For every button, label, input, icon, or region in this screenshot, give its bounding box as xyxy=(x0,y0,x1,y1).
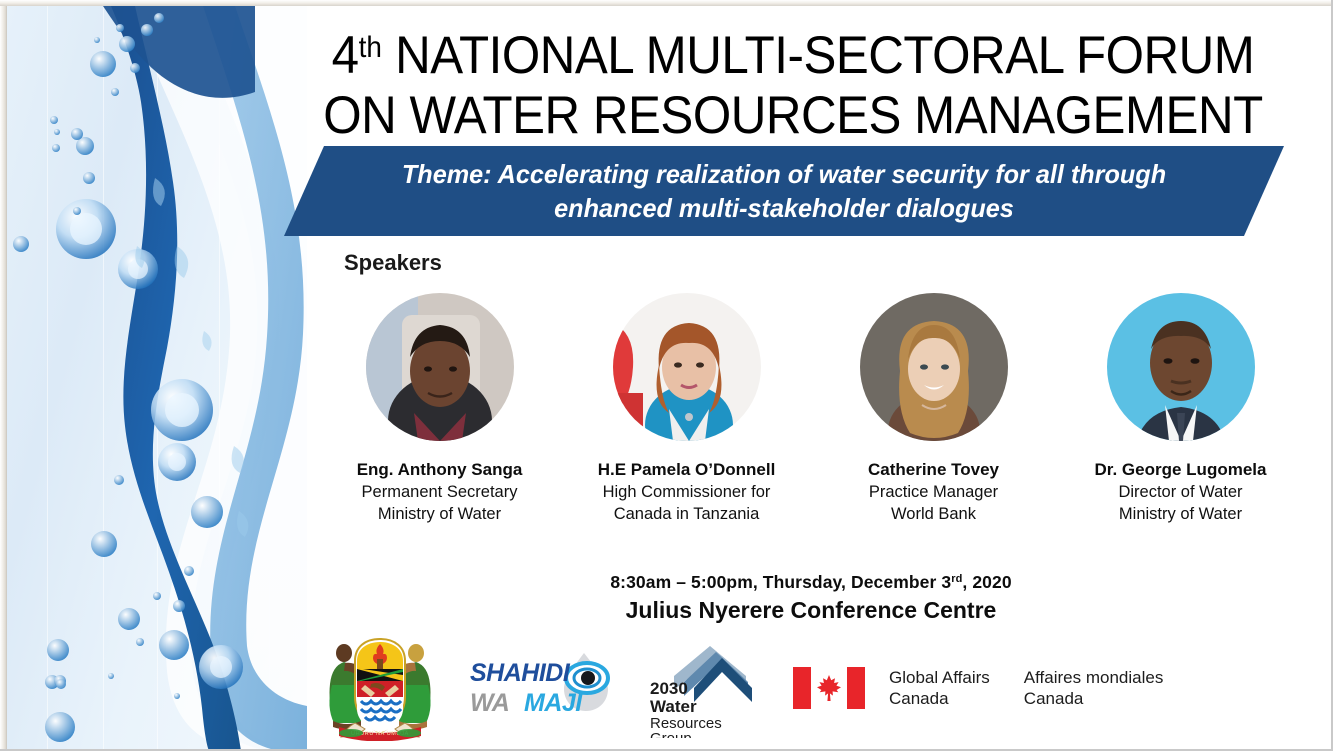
speaker-name: Dr. George Lugomela xyxy=(1057,459,1304,481)
2030-water-resources-group-logo: 2030 Water Resources Group xyxy=(643,632,763,744)
event-datetime: 8:30am – 5:00pm, Thursday, December 3rd,… xyxy=(316,566,1306,595)
speaker-card: H.E Pamela O’Donnell High Commissioner f… xyxy=(563,293,810,525)
event-year: , 2020 xyxy=(962,572,1011,592)
portrait-pamela-odonnell xyxy=(613,293,761,441)
affaires-mondiales-canada-french: Affaires mondiales Canada xyxy=(1024,667,1164,709)
global-affairs-canada-logo: Global Affairs Canada Affaires mondiales… xyxy=(793,632,1163,744)
shahidi-word: SHAHIDI xyxy=(470,659,571,687)
title-line-1-rest: NATIONAL MULTI-SECTORAL FORUM xyxy=(382,26,1254,85)
speakers-heading: Speakers xyxy=(344,250,442,276)
speaker-role: High Commissioner for xyxy=(563,481,810,503)
wrg-line-2030: 2030 xyxy=(650,679,688,698)
speaker-card: Catherine Tovey Practice Manager World B… xyxy=(810,293,1057,525)
slide-frame-left-edge xyxy=(0,0,7,751)
canada-flag-icon xyxy=(793,667,865,709)
theme-text: Theme: Accelerating realization of water… xyxy=(357,157,1211,225)
wrg-line-water: Water xyxy=(650,697,697,716)
speaker-name: H.E Pamela O’Donnell xyxy=(563,459,810,481)
slide-frame-top-edge xyxy=(0,0,1333,6)
title-ordinal-number: 4 xyxy=(332,26,359,85)
title-ordinal-suffix: th xyxy=(359,31,382,64)
event-info: 8:30am – 5:00pm, Thursday, December 3rd,… xyxy=(316,566,1306,625)
title-line-2: ON WATER RESOURCES MANAGEMENT xyxy=(319,86,1268,146)
global-affairs-canada-english: Global Affairs Canada xyxy=(889,667,990,709)
wrg-line-group: Group xyxy=(650,730,692,738)
event-date-ordinal-suffix: rd xyxy=(951,573,962,585)
speaker-card: Eng. Anthony Sanga Permanent Secretary M… xyxy=(316,293,563,525)
portrait-anthony-sanga xyxy=(366,293,514,441)
speaker-name: Eng. Anthony Sanga xyxy=(316,459,563,481)
water-bubbles-graphic xyxy=(7,6,307,751)
speaker-card: Dr. George Lugomela Director of Water Mi… xyxy=(1057,293,1304,525)
speaker-role: Permanent Secretary xyxy=(316,481,563,503)
speakers-row: Eng. Anthony Sanga Permanent Secretary M… xyxy=(316,293,1306,525)
speaker-organization: World Bank xyxy=(810,503,1057,525)
french-line-2: Canada xyxy=(1024,688,1164,709)
speaker-organization: Canada in Tanzania xyxy=(563,503,810,525)
speaker-role: Director of Water xyxy=(1057,481,1304,503)
english-line-2: Canada xyxy=(889,688,990,709)
title-line-1: 4th NATIONAL MULTI-SECTORAL FORUM xyxy=(319,18,1268,86)
event-venue: Julius Nyerere Conference Centre xyxy=(316,595,1306,625)
wa-word: WA xyxy=(470,689,509,717)
tanzania-coat-of-arms: UHURU NA UMOJA xyxy=(316,632,444,744)
speaker-role: Practice Manager xyxy=(810,481,1057,503)
portrait-george-lugomela xyxy=(1107,293,1255,441)
slide-canvas: 4th NATIONAL MULTI-SECTORAL FORUM ON WAT… xyxy=(0,0,1333,751)
event-time-range: 8:30am – 5:00pm, Thursday, December 3 xyxy=(610,572,951,592)
logo-row: UHURU NA UMOJA SHAHIDI WA MAJI xyxy=(316,632,1306,744)
water-wave-svg xyxy=(7,6,307,751)
speaker-name: Catherine Tovey xyxy=(810,459,1057,481)
shahidi-wa-maji-logo: SHAHIDI WA MAJI xyxy=(466,632,621,744)
maji-word: MAJI xyxy=(524,689,583,717)
speaker-organization: Ministry of Water xyxy=(1057,503,1304,525)
theme-banner: Theme: Accelerating realization of water… xyxy=(284,146,1284,236)
portrait-catherine-tovey xyxy=(860,293,1008,441)
speaker-organization: Ministry of Water xyxy=(316,503,563,525)
english-line-1: Global Affairs xyxy=(889,667,990,688)
page-title: 4th NATIONAL MULTI-SECTORAL FORUM ON WAT… xyxy=(283,18,1303,146)
french-line-1: Affaires mondiales xyxy=(1024,667,1164,688)
maple-leaf-icon xyxy=(816,674,842,702)
